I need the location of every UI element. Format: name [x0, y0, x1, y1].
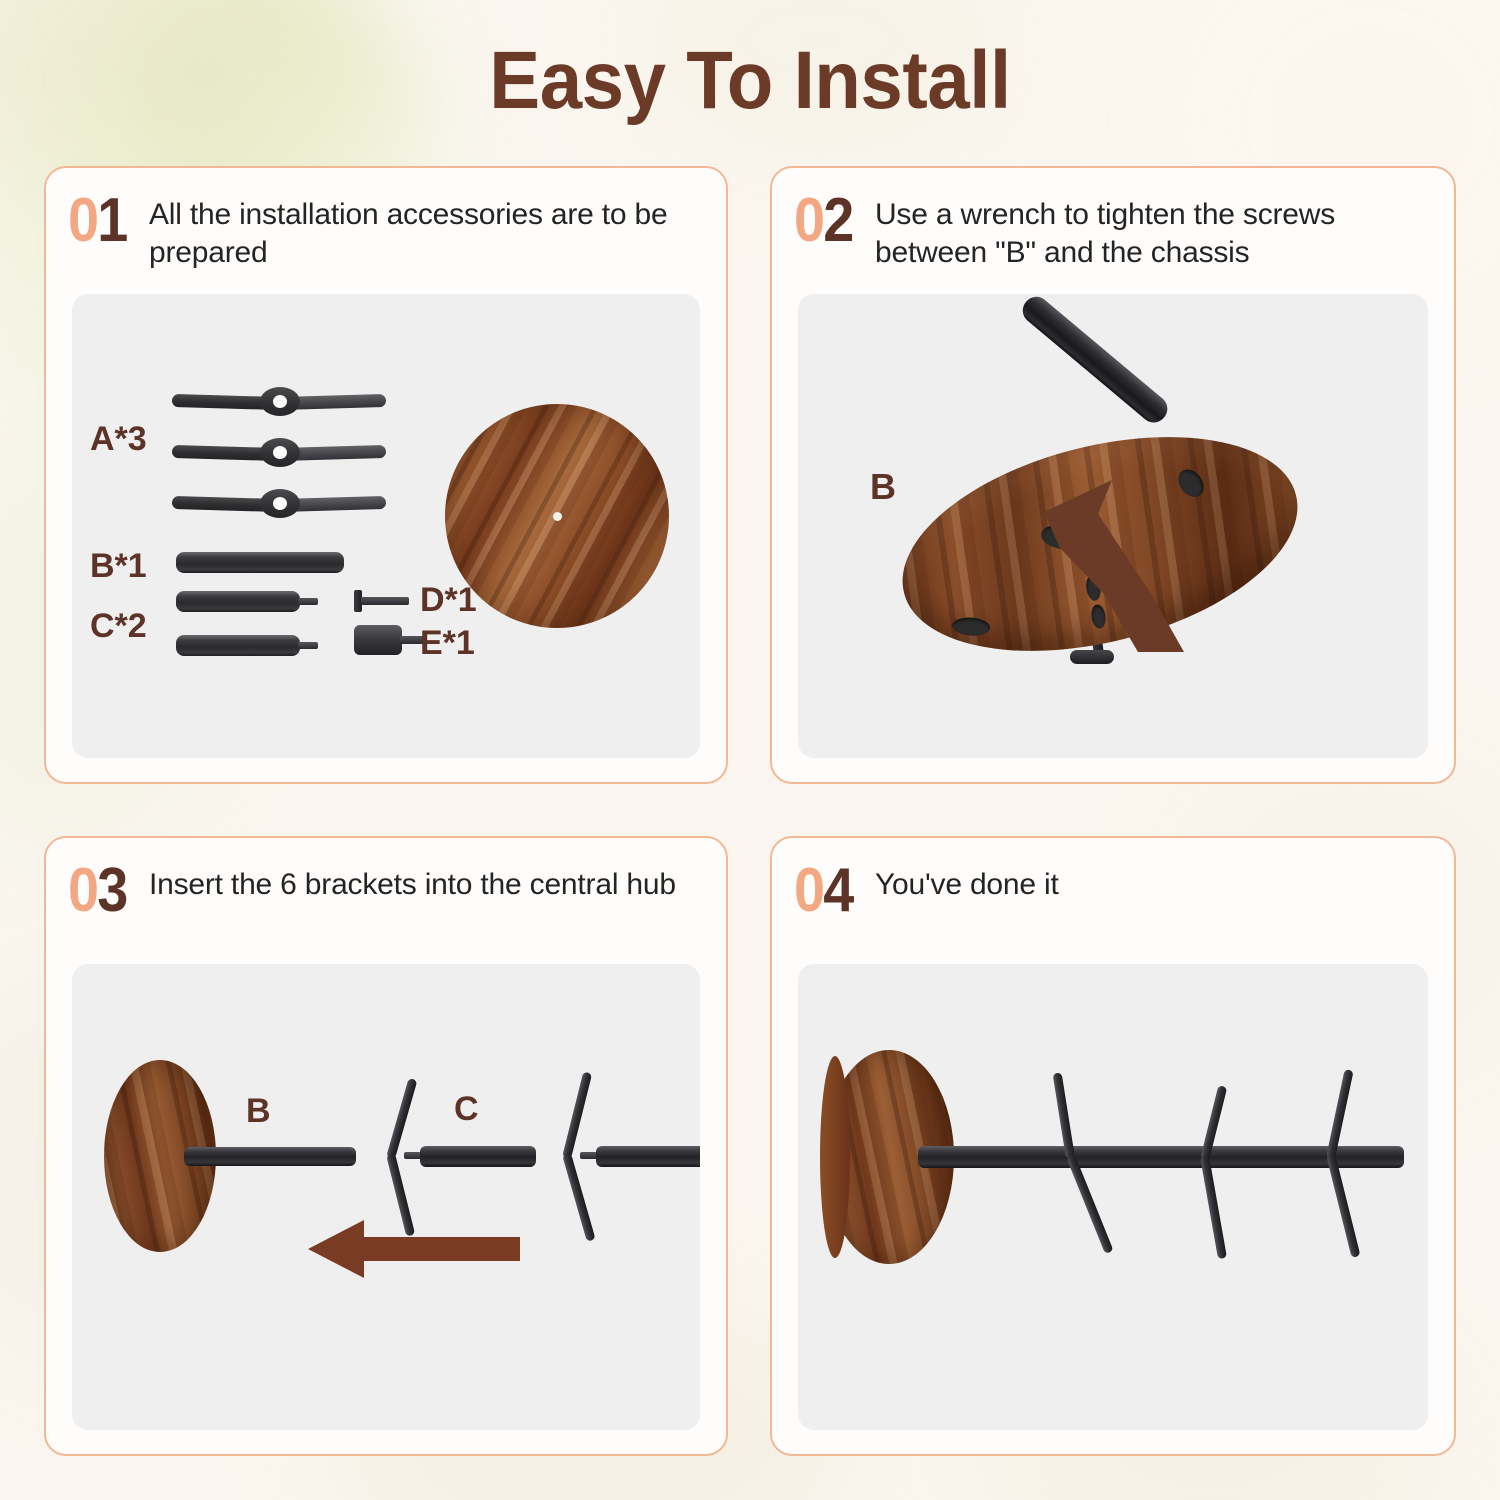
- hook-arm-upper: [1053, 1072, 1075, 1158]
- wood-disc-front: [445, 404, 669, 628]
- step-text-01: All the installation accessories are to …: [149, 192, 726, 273]
- step-panel-04: 04 You've done it: [770, 836, 1456, 1456]
- figure-parts-layout: A*3 B*1 C*2: [72, 294, 700, 758]
- part-c-rod: [176, 591, 300, 612]
- part-label-a: A*3: [90, 420, 147, 459]
- rod-c: [420, 1146, 536, 1167]
- step-number-digit: 4: [823, 856, 852, 925]
- part-a-bracket: [172, 386, 386, 416]
- step-header-02: 02 Use a wrench to tighten the screws be…: [772, 168, 1454, 286]
- bracket-center-hole: [273, 395, 287, 408]
- install-guide-page: Easy To Install 01 All the installation …: [0, 0, 1500, 1500]
- part-label-b: B*1: [90, 547, 147, 586]
- part-label-c: C*2: [90, 607, 147, 646]
- rod-b-angled: [1017, 294, 1172, 428]
- part-c-rod: [176, 635, 300, 656]
- callout-label-b: B: [246, 1092, 271, 1131]
- step-number-04: 04: [794, 862, 852, 921]
- part-d-screw-shaft: [361, 597, 409, 605]
- part-label-d: D*1: [420, 581, 477, 620]
- step-panel-03: 03 Insert the 6 brackets into the centra…: [44, 836, 728, 1456]
- step-number-digit: 1: [97, 186, 126, 255]
- callout-label-b: B: [870, 466, 896, 508]
- insert-direction-arrow-icon: [308, 1218, 520, 1280]
- part-label-e: E*1: [420, 624, 475, 663]
- step-panel-01: 01 All the installation accessories are …: [44, 166, 728, 784]
- attention-arrow-icon: [1034, 472, 1234, 662]
- rod-b: [184, 1147, 356, 1166]
- step-number-zero: 0: [794, 186, 823, 255]
- hook-arm-lower: [1200, 1155, 1227, 1259]
- step-header-04: 04 You've done it: [772, 838, 1454, 956]
- part-e-cap-body: [354, 625, 402, 655]
- part-a-bracket: [172, 488, 386, 518]
- step-header-01: 01 All the installation accessories are …: [46, 168, 726, 286]
- step-text-02: Use a wrench to tighten the screws betwe…: [875, 192, 1454, 273]
- hook-arm-lower: [1066, 1154, 1113, 1254]
- step-number-zero: 0: [68, 856, 97, 925]
- figure-insert-brackets: B C: [72, 964, 700, 1430]
- step-header-03: 03 Insert the 6 brackets into the centra…: [46, 838, 726, 956]
- step-number-01: 01: [68, 192, 126, 251]
- hook-arm-upper: [386, 1078, 417, 1159]
- step-number-digit: 3: [97, 856, 126, 925]
- part-a-bracket: [172, 437, 386, 467]
- hook-arm-upper: [562, 1072, 592, 1160]
- step-number-03: 03: [68, 862, 126, 921]
- step-text-03: Insert the 6 brackets into the central h…: [149, 862, 676, 904]
- bracket-center-hole: [273, 497, 287, 510]
- hook-arm-lower: [1326, 1153, 1360, 1258]
- callout-label-c: C: [454, 1090, 479, 1129]
- hook-bracket: [1046, 1072, 1116, 1262]
- step-number-zero: 0: [794, 856, 823, 925]
- hook-arm-upper: [1200, 1085, 1227, 1161]
- hook-arm-upper: [1326, 1069, 1354, 1159]
- part-c-rod-tip: [298, 642, 318, 649]
- step-panel-02: 02 Use a wrench to tighten the screws be…: [770, 166, 1456, 784]
- wood-disc-base-edge: [820, 1056, 850, 1258]
- hook-bracket: [1176, 1084, 1246, 1262]
- figure-tighten-screws: B: [798, 294, 1428, 758]
- figure-finished-assembly: [798, 964, 1428, 1430]
- hook-bracket: [536, 1070, 582, 1244]
- step-number-02: 02: [794, 192, 852, 251]
- rod-c2: [596, 1146, 700, 1167]
- wood-disc-center-hole: [553, 512, 562, 521]
- mounting-slot: [952, 616, 991, 637]
- part-b-rod: [176, 552, 344, 573]
- page-title: Easy To Install: [53, 34, 1448, 128]
- step-number-zero: 0: [68, 186, 97, 255]
- step-text-04: You've done it: [875, 862, 1059, 904]
- bracket-center-hole: [273, 446, 287, 459]
- step-number-digit: 2: [823, 186, 852, 255]
- hook-bracket: [1304, 1068, 1374, 1264]
- part-c-rod-tip: [298, 598, 318, 605]
- hook-arm-lower: [562, 1153, 595, 1242]
- hook-bracket: [358, 1076, 404, 1238]
